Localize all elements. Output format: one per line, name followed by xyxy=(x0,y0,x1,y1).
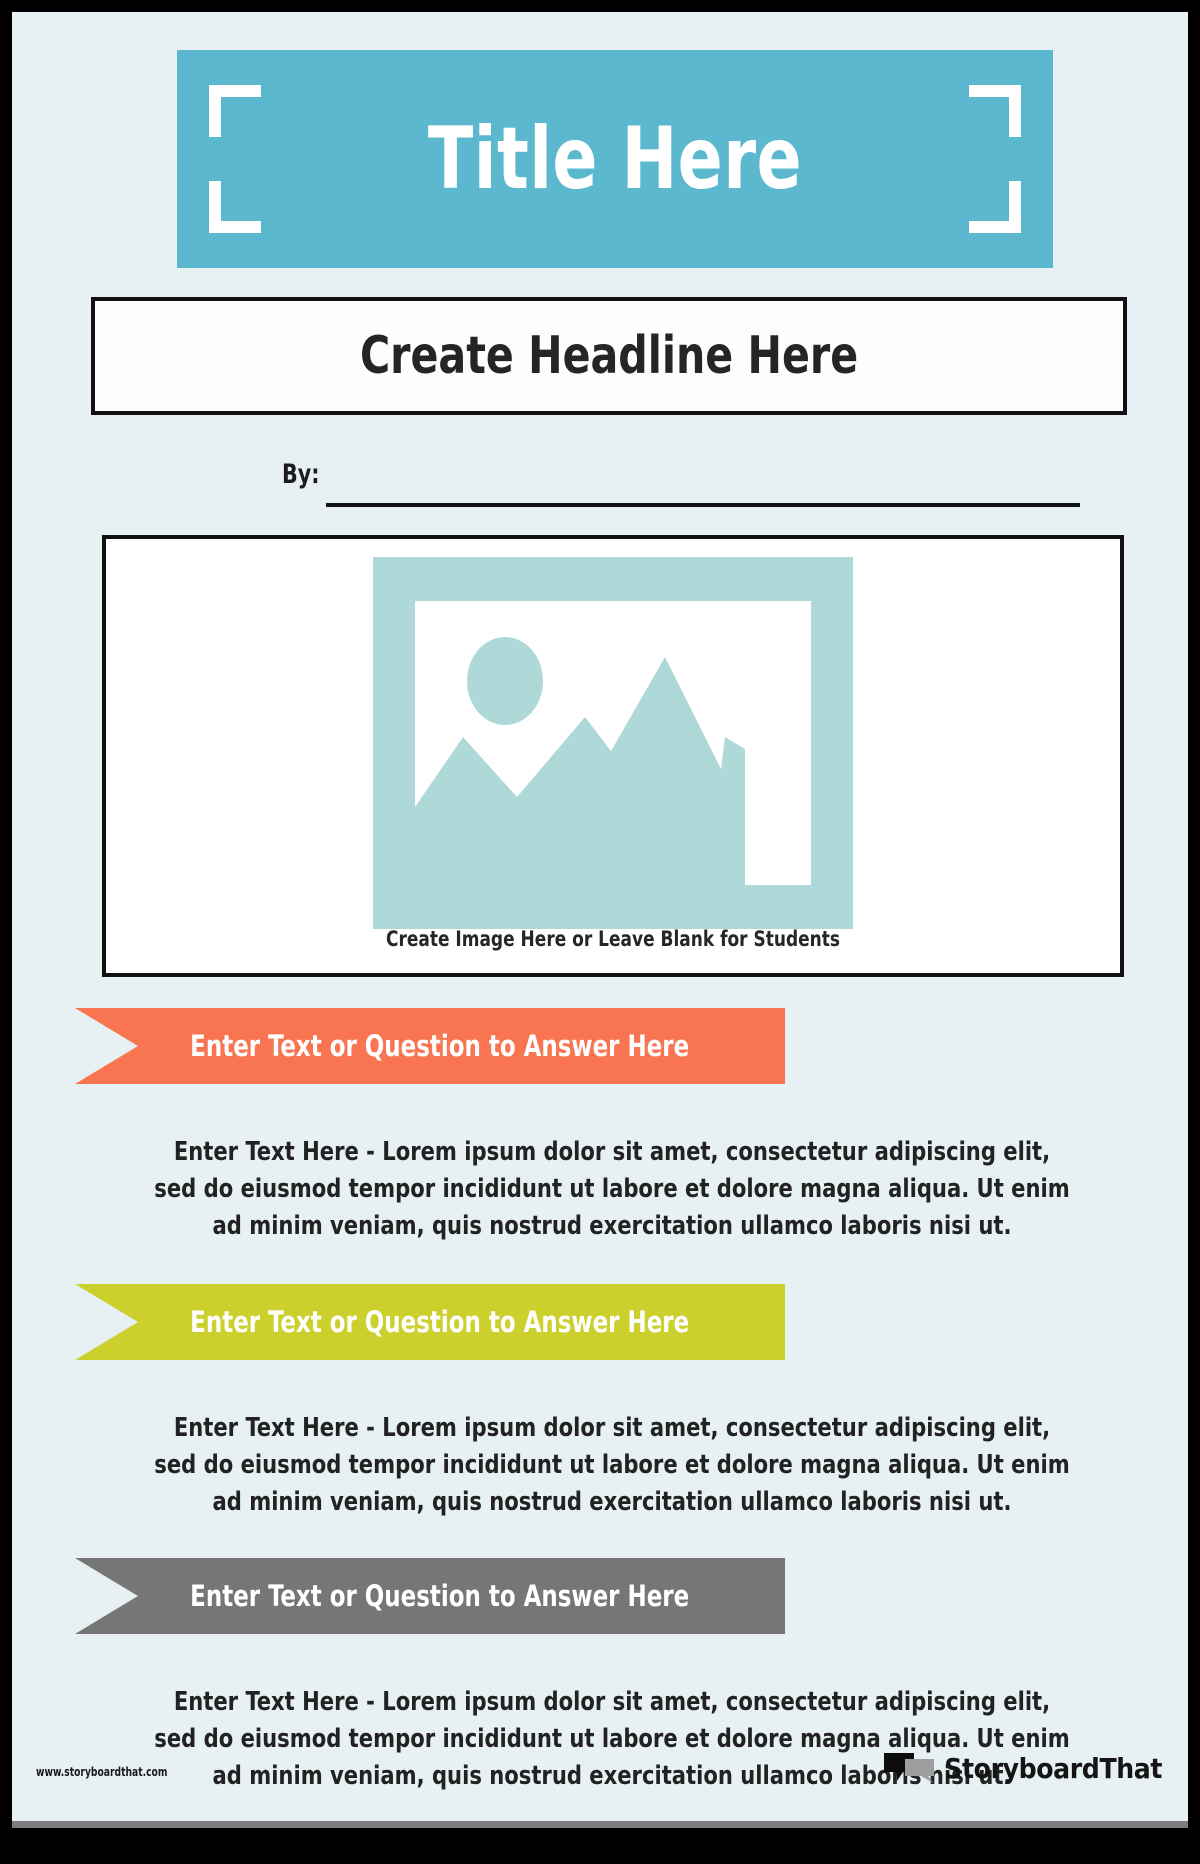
mountain-icon xyxy=(415,601,811,885)
section-ribbon-3[interactable]: Enter Text or Question to Answer Here xyxy=(75,1558,785,1634)
poster-sheet: Title Here Create Headline Here By: Crea… xyxy=(12,12,1188,1828)
section-heading-2[interactable]: Enter Text or Question to Answer Here xyxy=(118,1305,743,1339)
image-placeholder-box[interactable]: Create Image Here or Leave Blank for Stu… xyxy=(102,535,1124,977)
section-ribbon-1[interactable]: Enter Text or Question to Answer Here xyxy=(75,1008,785,1084)
footer-site-url[interactable]: www.storyboardthat.com xyxy=(36,1765,167,1779)
headline-box[interactable]: Create Headline Here xyxy=(91,297,1127,415)
section-body-2[interactable]: Enter Text Here - Lorem ipsum dolor sit … xyxy=(152,1410,1072,1521)
storyboardthat-logo[interactable]: StoryboardThat xyxy=(883,1748,1162,1788)
image-placeholder-caption: Create Image Here or Leave Blank for Stu… xyxy=(157,927,1070,951)
title-banner[interactable]: Title Here xyxy=(177,50,1053,268)
logo-word-that: That xyxy=(1099,1752,1162,1785)
section-heading-3[interactable]: Enter Text or Question to Answer Here xyxy=(118,1579,743,1613)
byline-label: By: xyxy=(282,459,319,490)
footer-black-bar xyxy=(0,1828,1200,1864)
storyboardthat-wordmark: StoryboardThat xyxy=(944,1752,1162,1785)
footer-gray-rule xyxy=(12,1821,1188,1828)
title-text[interactable]: Title Here xyxy=(238,50,991,268)
speech-bubbles-icon xyxy=(883,1751,935,1785)
byline-row: By: xyxy=(282,459,1082,515)
poster-page: Title Here Create Headline Here By: Crea… xyxy=(0,0,1200,1864)
section-ribbon-2[interactable]: Enter Text or Question to Answer Here xyxy=(75,1284,785,1360)
headline-text[interactable]: Create Headline Here xyxy=(360,326,858,386)
byline-input-rule[interactable] xyxy=(326,503,1080,507)
section-heading-1[interactable]: Enter Text or Question to Answer Here xyxy=(118,1029,743,1063)
section-body-1[interactable]: Enter Text Here - Lorem ipsum dolor sit … xyxy=(152,1134,1072,1245)
image-placeholder-icon xyxy=(373,557,853,929)
logo-word-storyboard: Storyboard xyxy=(944,1752,1099,1785)
